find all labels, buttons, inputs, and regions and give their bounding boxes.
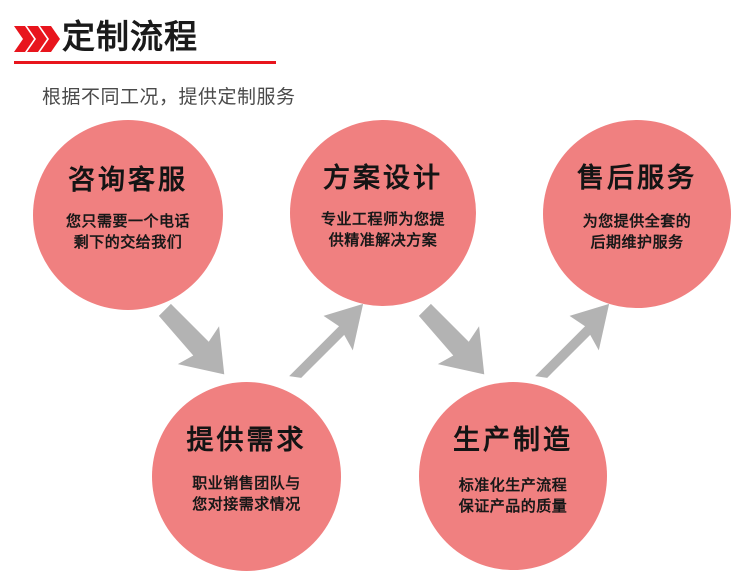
page-header: 定制流程 根据不同工况，提供定制服务: [0, 0, 750, 78]
arrow-down-right-icon: [412, 297, 498, 383]
flow-node-desc-line: 专业工程师为您提: [321, 209, 445, 230]
flow-node-design[interactable]: 方案设计 专业工程师为您提 供精准解决方案: [290, 120, 476, 306]
flow-node-title: 咨询客服: [68, 158, 188, 197]
flow-node-description: 为您提供全套的 后期维护服务: [583, 211, 692, 253]
flow-node-desc-line: 职业销售团队与: [192, 473, 301, 494]
arrow-up-right-icon: [284, 297, 370, 383]
flow-node-after-sales[interactable]: 售后服务 为您提供全套的 后期维护服务: [543, 120, 731, 308]
flow-node-desc-line: 标准化生产流程: [459, 475, 568, 496]
arrow-up-right-icon: [530, 297, 616, 383]
infographic-canvas: 定制流程 根据不同工况，提供定制服务 咨询客服 您只需要一个电话 剩下的交给我们…: [0, 0, 750, 576]
title-underline-divider: [14, 61, 276, 64]
flow-node-description: 您只需要一个电话 剩下的交给我们: [66, 211, 190, 253]
flow-node-desc-line: 保证产品的质量: [459, 496, 568, 517]
flow-node-desc-line: 您只需要一个电话: [66, 211, 190, 232]
page-subtitle: 根据不同工况，提供定制服务: [42, 82, 296, 109]
flow-node-desc-line: 您对接需求情况: [192, 494, 301, 515]
flow-node-desc-line: 剩下的交给我们: [66, 232, 190, 253]
page-title: 定制流程: [62, 16, 198, 58]
arrow-down-right-icon: [152, 297, 238, 383]
flow-node-desc-line: 供精准解决方案: [321, 230, 445, 251]
flow-node-consultation[interactable]: 咨询客服 您只需要一个电话 剩下的交给我们: [33, 120, 223, 310]
triple-chevron-right-icon: [14, 24, 62, 54]
flow-node-requirements[interactable]: 提供需求 职业销售团队与 您对接需求情况: [152, 382, 341, 571]
flow-node-description: 专业工程师为您提 供精准解决方案: [321, 209, 445, 251]
flow-node-description: 职业销售团队与 您对接需求情况: [192, 473, 301, 515]
flow-node-manufacturing[interactable]: 生产制造 标准化生产流程 保证产品的质量: [419, 382, 607, 570]
flow-node-title: 方案设计: [323, 156, 443, 195]
flow-node-title: 售后服务: [577, 156, 697, 195]
flow-node-title: 提供需求: [187, 418, 307, 457]
flow-node-description: 标准化生产流程 保证产品的质量: [459, 475, 568, 517]
flow-node-title: 生产制造: [453, 418, 573, 457]
flow-node-desc-line: 后期维护服务: [583, 232, 692, 253]
flow-node-desc-line: 为您提供全套的: [583, 211, 692, 232]
